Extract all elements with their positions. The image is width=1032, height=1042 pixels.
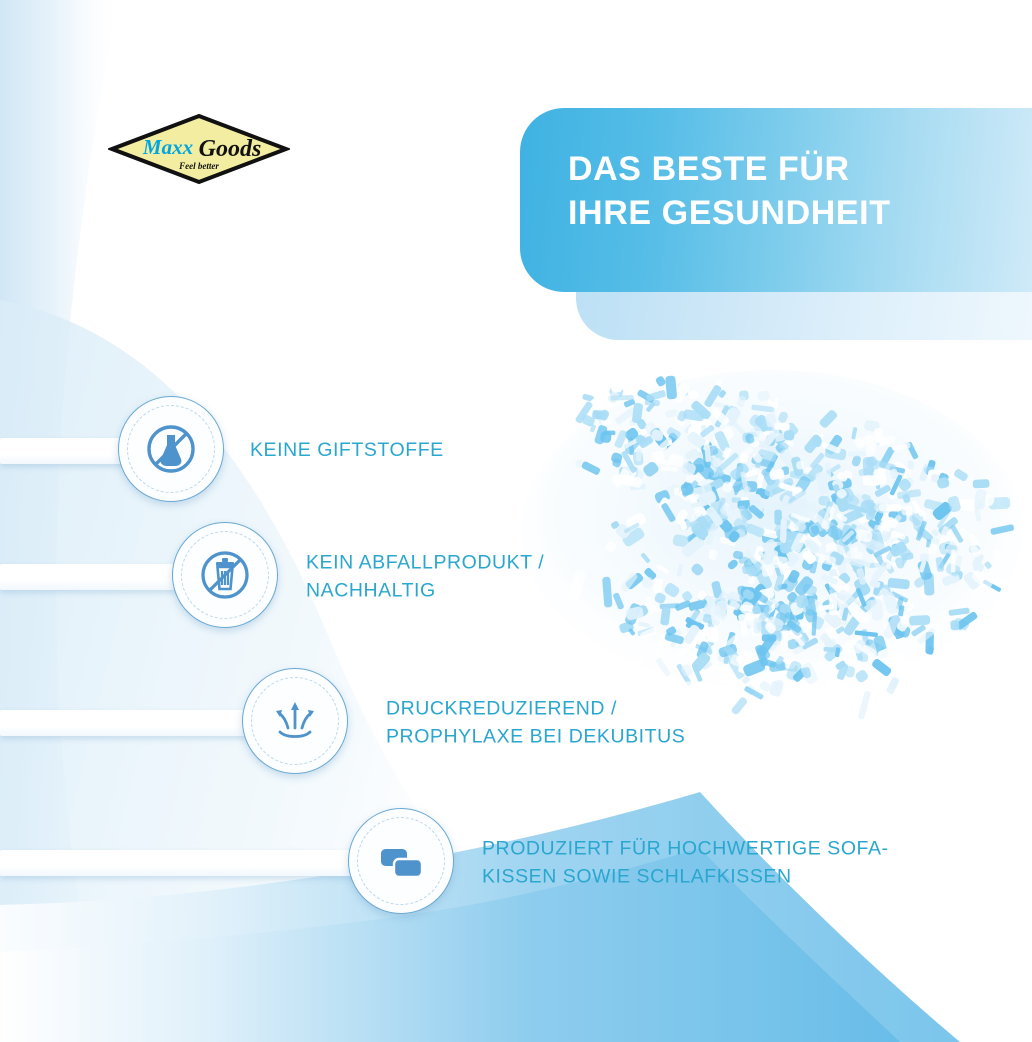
feature-label-line: KISSEN SOWIE SCHLAFKISSEN <box>482 863 889 891</box>
feature-row: KEIN ABFALLPRODUKT / NACHHALTIG <box>0 522 700 632</box>
logo-text-maxx: Maxx <box>142 135 193 159</box>
feature-label-line: PROPHYLAXE BEI DEKUBITUS <box>386 723 685 751</box>
feature-label-line: PRODUZIERT FÜR HOCHWERTIGE SOFA- <box>482 835 889 863</box>
pillows-icon <box>370 830 432 892</box>
page-title-line1: DAS BESTE FÜR <box>568 150 850 188</box>
feature-label: KEIN ABFALLPRODUKT / NACHHALTIG <box>306 549 544 604</box>
logo-tagline-text: Feel better <box>178 161 219 171</box>
feature-label: DRUCKREDUZIEREND / PROPHYLAXE BEI DEKUBI… <box>386 695 685 750</box>
feature-label-line: DRUCKREDUZIEREND / <box>386 695 685 723</box>
feature-label-line: KEIN ABFALLPRODUKT / <box>306 549 544 577</box>
no-waste-icon <box>194 544 256 606</box>
feature-label-line: NACHHALTIG <box>306 577 544 605</box>
page-title: DAS BESTE FÜR IHRE GESUNDHEIT <box>568 148 1008 235</box>
feature-row: DRUCKREDUZIEREND / PROPHYLAXE BEI DEKUBI… <box>0 668 780 778</box>
feature-label: KEINE GIFTSTOFFE <box>250 437 444 465</box>
page-title-line2: IHRE GESUNDHEIT <box>568 192 1008 236</box>
feature-icon-badge[interactable] <box>118 396 224 502</box>
no-toxins-icon <box>140 418 202 480</box>
feature-icon-badge[interactable] <box>172 522 278 628</box>
header-banner: DAS BESTE FÜR IHRE GESUNDHEIT <box>520 108 1032 340</box>
infographic-poster: Maxx Goods Feel better DAS BESTE FÜR IHR… <box>0 0 1032 1042</box>
brand-logo: Maxx Goods Feel better <box>108 112 290 186</box>
feature-icon-badge[interactable] <box>348 808 454 914</box>
feature-label: PRODUZIERT FÜR HOCHWERTIGE SOFA- KISSEN … <box>482 835 889 890</box>
feature-label-line: KEINE GIFTSTOFFE <box>250 437 444 465</box>
feature-row: PRODUZIERT FÜR HOCHWERTIGE SOFA- KISSEN … <box>0 808 960 918</box>
pressure-relief-arrows-icon <box>264 690 326 752</box>
feature-icon-badge[interactable] <box>242 668 348 774</box>
feature-row: KEINE GIFTSTOFFE <box>0 396 700 506</box>
logo-text-goods: Goods <box>199 136 262 162</box>
